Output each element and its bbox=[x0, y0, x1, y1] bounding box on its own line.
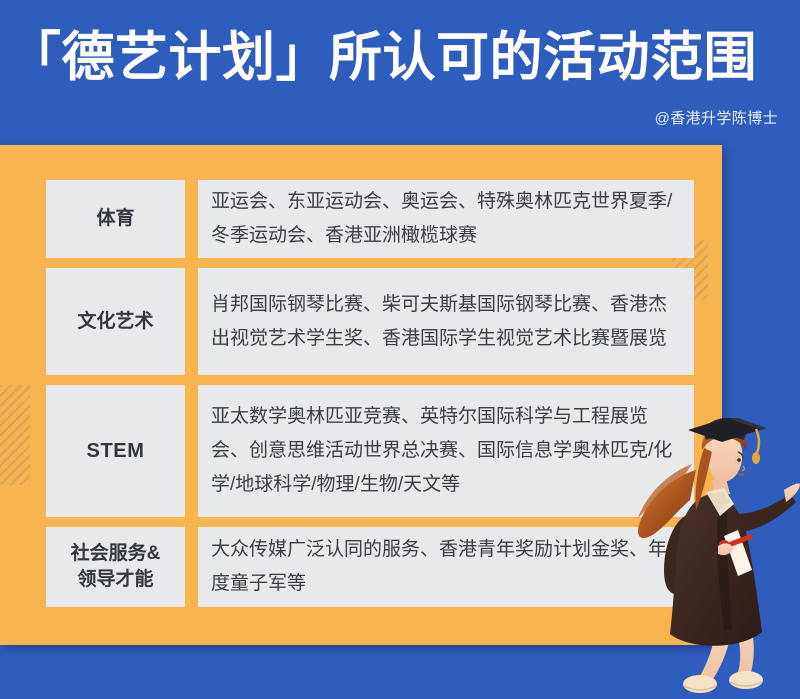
poster-canvas: 「德艺计划」所认可的活动范围 @香港升学陈博士 体育 亚运会、东亚运动会、奥运会… bbox=[0, 0, 800, 699]
table-row-label: 文化艺术 bbox=[46, 268, 185, 375]
table-row-label: STEM bbox=[46, 385, 185, 517]
hand-pointing bbox=[784, 483, 800, 502]
poster-header: 「德艺计划」所认可的活动范围 @香港升学陈博士 bbox=[0, 0, 800, 145]
nose bbox=[742, 466, 744, 471]
author-byline: @香港升学陈博士 bbox=[655, 110, 778, 128]
table-row: 社会服务& 领导才能 大众传媒广泛认同的服务、香港青年奖励计划金奖、年度童子军等 bbox=[46, 527, 694, 607]
table-row-label: 社会服务& 领导才能 bbox=[46, 527, 185, 607]
shoe-front bbox=[729, 671, 763, 689]
table-row-content: 亚运会、东亚运动会、奥运会、特殊奥林匹克世界夏季/冬季运动会、香港亚洲橄榄球赛 bbox=[198, 180, 694, 258]
leg-front bbox=[736, 622, 754, 676]
table-row: 文化艺术 肖邦国际钢琴比赛、柴可夫斯基国际钢琴比赛、香港杰出视觉艺术学生奖、香港… bbox=[46, 268, 694, 375]
table-cell-text: 肖邦国际钢琴比赛、柴可夫斯基国际钢琴比赛、香港杰出视觉艺术学生奖、香港国际学生视… bbox=[211, 288, 680, 356]
eyebrow bbox=[738, 452, 743, 458]
content-panel: 体育 亚运会、东亚运动会、奥运会、特殊奥林匹克世界夏季/冬季运动会、香港亚洲橄榄… bbox=[0, 145, 722, 645]
page-title: 「德艺计划」所认可的活动范围 bbox=[8, 28, 792, 88]
shoe-back bbox=[683, 675, 717, 693]
tassel bbox=[752, 452, 760, 464]
tassel-cord bbox=[756, 429, 759, 455]
diploma-ribbon bbox=[726, 536, 752, 546]
eye bbox=[737, 458, 741, 462]
table-cell-text: 亚太数学奥林匹亚竞赛、英特尔国际科学与工程展览会、创意思维活动世界总决赛、国际信… bbox=[211, 400, 680, 502]
diploma-scroll bbox=[724, 530, 752, 576]
table-row-content: 亚太数学奥林匹亚竞赛、英特尔国际科学与工程展览会、创意思维活动世界总决赛、国际信… bbox=[198, 385, 694, 517]
table-cell-text: 亚运会、东亚运动会、奥运会、特殊奥林匹克世界夏季/冬季运动会、香港亚洲橄榄球赛 bbox=[211, 185, 680, 253]
ear bbox=[734, 455, 742, 465]
mouth bbox=[738, 474, 744, 475]
table-cell-text: 大众传媒广泛认同的服务、香港青年奖励计划金奖、年度童子军等 bbox=[211, 533, 680, 601]
table-row-content: 大众传媒广泛认同的服务、香港青年奖励计划金奖、年度童子军等 bbox=[198, 527, 694, 607]
table-row: STEM 亚太数学奥林匹亚竞赛、英特尔国际科学与工程展览会、创意思维活动世界总决… bbox=[46, 385, 694, 517]
gown-sleeve-front bbox=[736, 494, 796, 532]
hatch-decoration-left bbox=[0, 385, 30, 485]
table-row-content: 肖邦国际钢琴比赛、柴可夫斯基国际钢琴比赛、香港杰出视觉艺术学生奖、香港国际学生视… bbox=[198, 268, 694, 375]
activity-scope-table: 体育 亚运会、东亚运动会、奥运会、特殊奥林匹克世界夏季/冬季运动会、香港亚洲橄榄… bbox=[46, 180, 694, 607]
table-row-label: 体育 bbox=[46, 180, 185, 258]
table-row: 体育 亚运会、东亚运动会、奥运会、特殊奥林匹克世界夏季/冬季运动会、香港亚洲橄榄… bbox=[46, 180, 694, 258]
